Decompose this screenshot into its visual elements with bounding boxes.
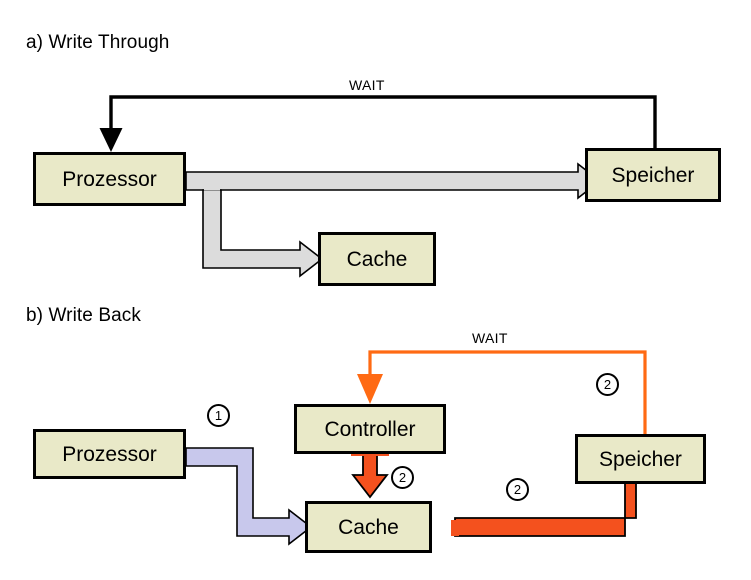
section-title-a: a) Write Through <box>26 32 169 54</box>
node-a-cache[interactable]: Cache <box>318 232 436 286</box>
node-a-speicher[interactable]: Speicher <box>585 148 721 202</box>
edge-b-controller-to-cache <box>351 450 389 497</box>
edge-a-processor-to-memory <box>186 164 600 198</box>
step-badge-2-controller-cache: 2 <box>391 466 414 489</box>
edge-a-wait-line <box>100 97 656 152</box>
edge-a-processor-to-cache <box>203 189 322 276</box>
node-b-speicher[interactable]: Speicher <box>575 434 706 484</box>
step-badge-1: 1 <box>207 404 230 427</box>
edge-b-processor-to-cache <box>186 448 311 544</box>
wait-label-b: WAIT <box>472 330 508 346</box>
node-b-controller[interactable]: Controller <box>294 404 446 454</box>
node-a-prozessor[interactable]: Prozessor <box>33 152 186 206</box>
wait-label-a: WAIT <box>349 77 385 93</box>
node-b-cache[interactable]: Cache <box>305 501 432 553</box>
section-title-b: b) Write Back <box>26 305 141 327</box>
step-badge-2-memory: 2 <box>596 373 619 396</box>
diagram-canvas: a) Write Through Prozessor Speicher Cach… <box>0 0 751 580</box>
arrowhead-a-wait <box>100 128 123 152</box>
arrowhead-b-wait <box>357 374 383 404</box>
step-badge-2-cache-memory: 2 <box>506 478 529 501</box>
node-b-prozessor[interactable]: Prozessor <box>33 429 186 479</box>
